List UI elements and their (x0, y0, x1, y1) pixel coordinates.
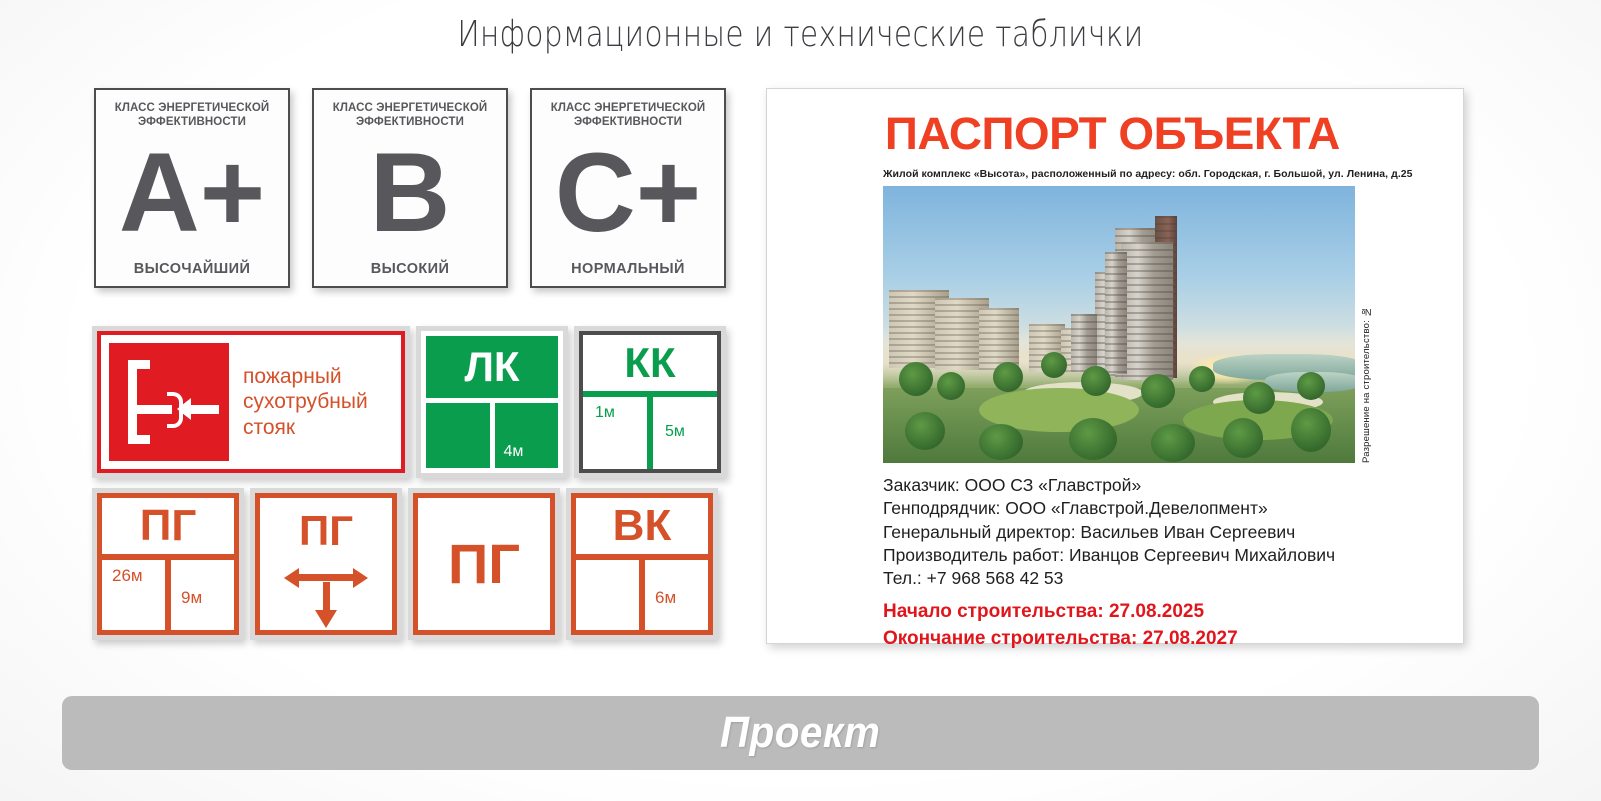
sign-lk: ЛК 4м (416, 326, 568, 478)
sign-vk-label: ВК (576, 498, 708, 560)
sign-vk-cell-left (576, 560, 639, 630)
construction-start-date: Начало строительства: 27.08.2025 (883, 599, 1439, 625)
passport-detail-customer: Заказчик: ООО СЗ «Главстрой» (883, 474, 1439, 497)
passport-image-row: Разрешение на строительство: № (883, 186, 1439, 463)
passport-detail-foreman: Производитель работ: Иванцов Сергеевич М… (883, 544, 1439, 567)
fire-sign-text: пожарный сухотрубный стояк (243, 364, 368, 441)
energy-class-plate-c-plus: КЛАСС ЭНЕРГЕТИЧЕСКОЙ ЭФФЕКТИВНОСТИ C+ НО… (530, 88, 726, 288)
footer-banner: Проект (62, 696, 1539, 770)
arrow-left-icon (284, 568, 299, 588)
direction-arrows-icon (260, 560, 392, 594)
sign-lk-cell-right: 4м (495, 403, 559, 468)
passport-detail-contractor: Генподрядчик: ООО «Главстрой.Девелопмент… (883, 497, 1439, 520)
sign-kk-cell-right: 5м (647, 397, 717, 469)
sign-row-upper: пожарный сухотрубный стояк ЛК 4м (92, 326, 726, 478)
passport-title: ПАСПОРТ ОБЪЕКТА (791, 103, 1452, 156)
object-passport-board: ПАСПОРТ ОБЪЕКТА Жилой комплекс «Высота»,… (766, 88, 1464, 644)
fire-sign-line2: сухотрубный (243, 389, 368, 415)
energy-class-plate-a-plus: КЛАСС ЭНЕРГЕТИЧЕСКОЙ ЭФФЕКТИВНОСТИ A+ ВЫ… (94, 88, 290, 288)
sign-lk-value-right: 4м (504, 443, 524, 461)
energy-plate-footer: ВЫСОКИЙ (371, 261, 450, 277)
fire-sign-line3: стояк (243, 415, 368, 441)
energy-plate-letter: A+ (119, 125, 265, 261)
fire-dry-riser-sign: пожарный сухотрубный стояк (92, 326, 410, 478)
construction-end-date: Окончание строительства: 27.08.2027 (883, 626, 1439, 652)
energy-class-plate-b: КЛАСС ЭНЕРГЕТИЧЕСКОЙ ЭФФЕКТИВНОСТИ B ВЫС… (312, 88, 508, 288)
sign-pg-distance-value-right: 9м (181, 588, 202, 608)
page-title: Информационные и технические таблички (144, 14, 1457, 55)
poster-page: Информационные и технические таблички КЛ… (0, 0, 1601, 801)
passport-detail-director: Генеральный директор: Васильев Иван Серг… (883, 521, 1439, 544)
footer-banner-label: Проект (720, 708, 880, 758)
building-permit-note: Разрешение на строительство: № (1361, 186, 1372, 463)
sign-row-lower: ПГ 26м 9м ПГ (92, 488, 718, 640)
sign-lk-label: ЛК (426, 336, 558, 398)
energy-plate-letter: B (370, 125, 451, 261)
energy-plate-footer: НОРМАЛЬНЫЙ (571, 261, 685, 277)
energy-plate-footer: ВЫСОЧАЙШИЙ (134, 261, 251, 277)
sign-kk-label: КК (583, 335, 717, 397)
arrow-right-icon (353, 568, 368, 588)
energy-plate-letter: C+ (555, 125, 701, 261)
sign-pg-distance: ПГ 26м 9м (92, 488, 244, 640)
sign-pg-distance-cell-right: 9м (165, 560, 234, 630)
passport-subtitle: Жилой комплекс «Высота», расположенный п… (883, 168, 1439, 180)
sign-pg-arrows: ПГ (250, 488, 402, 640)
sign-vk-cell-right: 6м (639, 560, 708, 630)
energy-class-plate-row: КЛАСС ЭНЕРГЕТИЧЕСКОЙ ЭФФЕКТИВНОСТИ A+ ВЫ… (94, 88, 726, 288)
sign-kk-value-right: 5м (665, 423, 685, 441)
sign-lk-cell-left (426, 403, 490, 468)
sign-vk: ВК 6м (566, 488, 718, 640)
sign-pg-distance-value-left: 26м (112, 566, 143, 586)
sign-kk-value-left: 1м (595, 404, 615, 422)
dry-riser-icon (109, 343, 229, 461)
sign-vk-value-right: 6м (655, 588, 676, 608)
arrow-down-icon (315, 610, 337, 628)
passport-dates: Начало строительства: 27.08.2025 Окончан… (883, 599, 1439, 651)
passport-details: Заказчик: ООО СЗ «Главстрой» Генподрядчи… (883, 474, 1439, 652)
sign-kk: КК 1м 5м (574, 326, 726, 478)
sign-kk-cell-left: 1м (583, 397, 647, 469)
sign-pg-distance-label: ПГ (102, 498, 234, 560)
sign-pg-plain: ПГ (408, 488, 560, 640)
sign-pg-distance-cell-left: 26м (102, 560, 165, 630)
sign-pg-plain-label: ПГ (448, 536, 520, 592)
fire-sign-line1: пожарный (243, 364, 368, 390)
passport-detail-phone: Тел.: +7 968 568 42 53 (883, 567, 1439, 590)
residential-complex-rendering (883, 186, 1355, 463)
sign-pg-arrows-label: ПГ (260, 498, 392, 552)
